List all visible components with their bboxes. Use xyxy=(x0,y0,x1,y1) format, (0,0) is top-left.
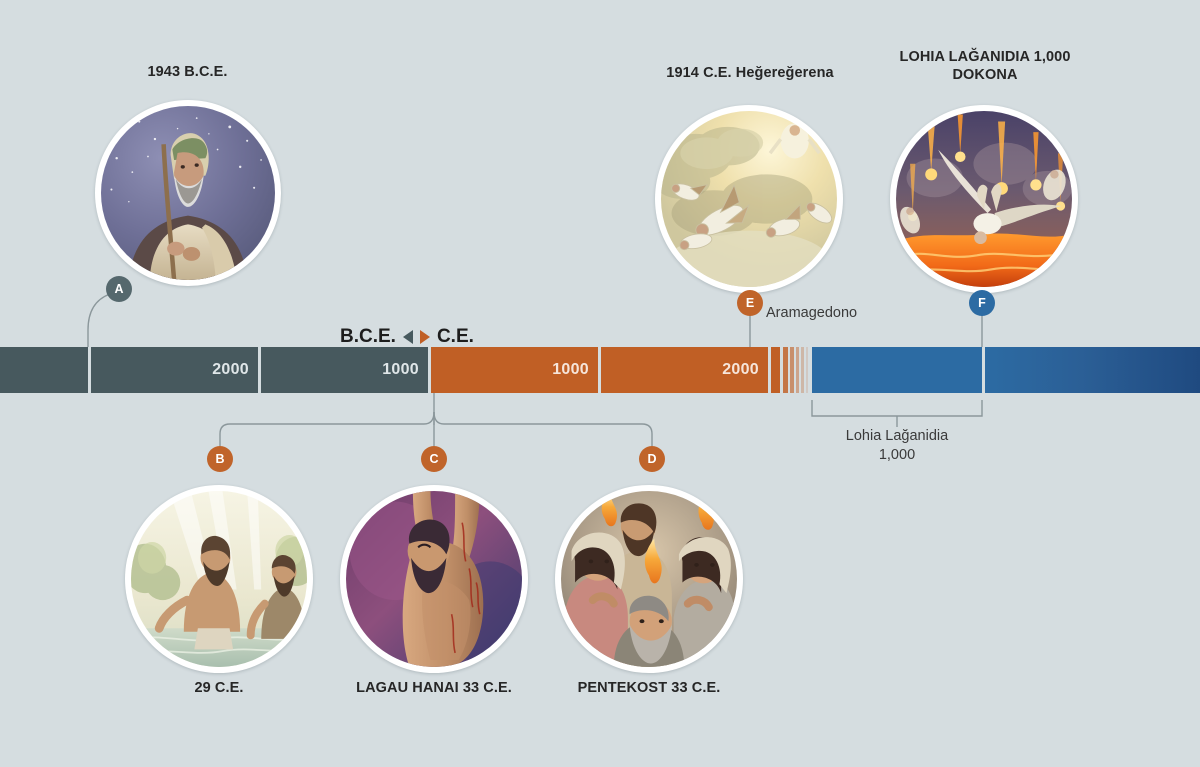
timeline-segment-bce-1000[interactable]: 1000 xyxy=(261,347,428,393)
crucifixion-illustration xyxy=(346,491,522,667)
caption-event-d: PENTEKOST 33 C.E. xyxy=(554,679,744,697)
annotation-millennium-bracket: Lohia Lağanidia 1,000 xyxy=(797,427,997,465)
photo-event-d[interactable] xyxy=(555,485,743,673)
marker-a[interactable]: A xyxy=(106,276,132,302)
marker-e[interactable]: E xyxy=(737,290,763,316)
photo-event-c[interactable] xyxy=(340,485,528,673)
timeline-segment-millennium[interactable] xyxy=(812,347,982,393)
infographic-stage: 1943 B.C.E. 1914 C.E. Heğereğerena LOHIA… xyxy=(0,0,1200,767)
caption-event-f-line2: DOKONA xyxy=(880,66,1090,84)
photo-event-f[interactable] xyxy=(890,105,1078,293)
timeline-segment-bce-3000[interactable] xyxy=(0,347,88,393)
timeline-segment-bce-2000[interactable]: 2000 xyxy=(91,347,258,393)
abraham-stars-illustration xyxy=(101,106,275,280)
photo-event-a[interactable] xyxy=(95,100,281,286)
annotation-armageddon: Aramagedono xyxy=(766,305,857,321)
arrow-right-icon xyxy=(420,330,430,344)
annotation-millennium-line1: Lohia Lağanidia xyxy=(797,427,997,446)
angels-cast-down-illustration xyxy=(661,111,837,287)
timeline-label-bce-1000: 1000 xyxy=(382,361,419,379)
photo-event-b[interactable] xyxy=(125,485,313,673)
timeline-segment-beyond[interactable] xyxy=(985,347,1200,393)
pentecost-flames-illustration xyxy=(561,491,737,667)
caption-event-f: LOHIA LAĞANIDIA 1,000 DOKONA xyxy=(880,48,1090,84)
photo-event-e[interactable] xyxy=(655,105,843,293)
timeline-segment-ce-2000[interactable]: 2000 xyxy=(601,347,768,393)
caption-event-b: 29 C.E. xyxy=(129,679,309,697)
caption-event-a: 1943 B.C.E. xyxy=(95,63,280,81)
timeline-label-bce-2000: 2000 xyxy=(212,361,249,379)
timeline-bar[interactable]: 2000 1000 1000 2000 xyxy=(0,347,1200,393)
caption-event-f-line1: LOHIA LAĞANIDIA 1,000 xyxy=(880,48,1090,66)
fiery-abyss-illustration xyxy=(896,111,1072,287)
caption-event-c: LAGAU HANAI 33 C.E. xyxy=(339,679,529,697)
baptism-illustration xyxy=(131,491,307,667)
marker-d[interactable]: D xyxy=(639,446,665,472)
marker-f[interactable]: F xyxy=(969,290,995,316)
arrow-left-icon xyxy=(403,330,413,344)
caption-event-e: 1914 C.E. Heğereğerena xyxy=(650,64,850,82)
marker-b[interactable]: B xyxy=(207,446,233,472)
marker-c[interactable]: C xyxy=(421,446,447,472)
timeline-label-ce-2000: 2000 xyxy=(722,361,759,379)
era-label: B.C.E. C.E. xyxy=(340,326,474,348)
timeline-label-ce-1000: 1000 xyxy=(552,361,589,379)
annotation-millennium-line2: 1,000 xyxy=(797,446,997,465)
era-label-bce: B.C.E. xyxy=(340,326,396,348)
era-label-ce: C.E. xyxy=(437,326,474,348)
timeline-segment-ce-1000[interactable]: 1000 xyxy=(431,347,598,393)
